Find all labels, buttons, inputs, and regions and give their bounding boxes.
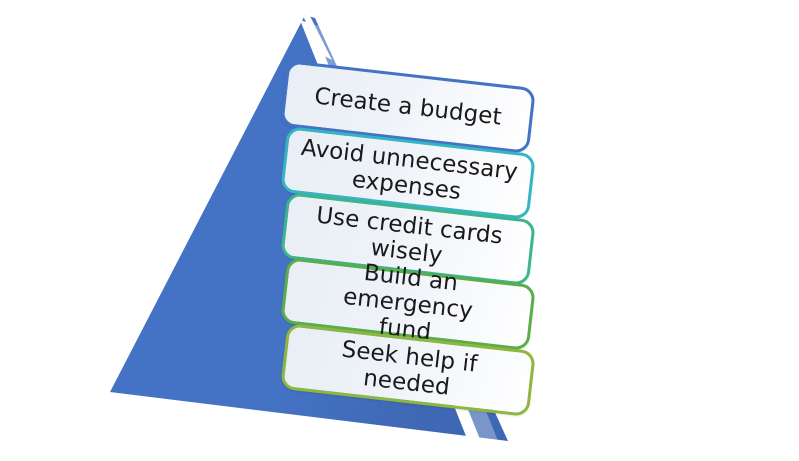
level-cards-layer: Create a budget Avoid unnecessary expens… [0, 0, 799, 461]
slide-canvas: Create a budget Avoid unnecessary expens… [0, 0, 799, 461]
pyramid-level-1-label: Create a budget [303, 82, 513, 132]
